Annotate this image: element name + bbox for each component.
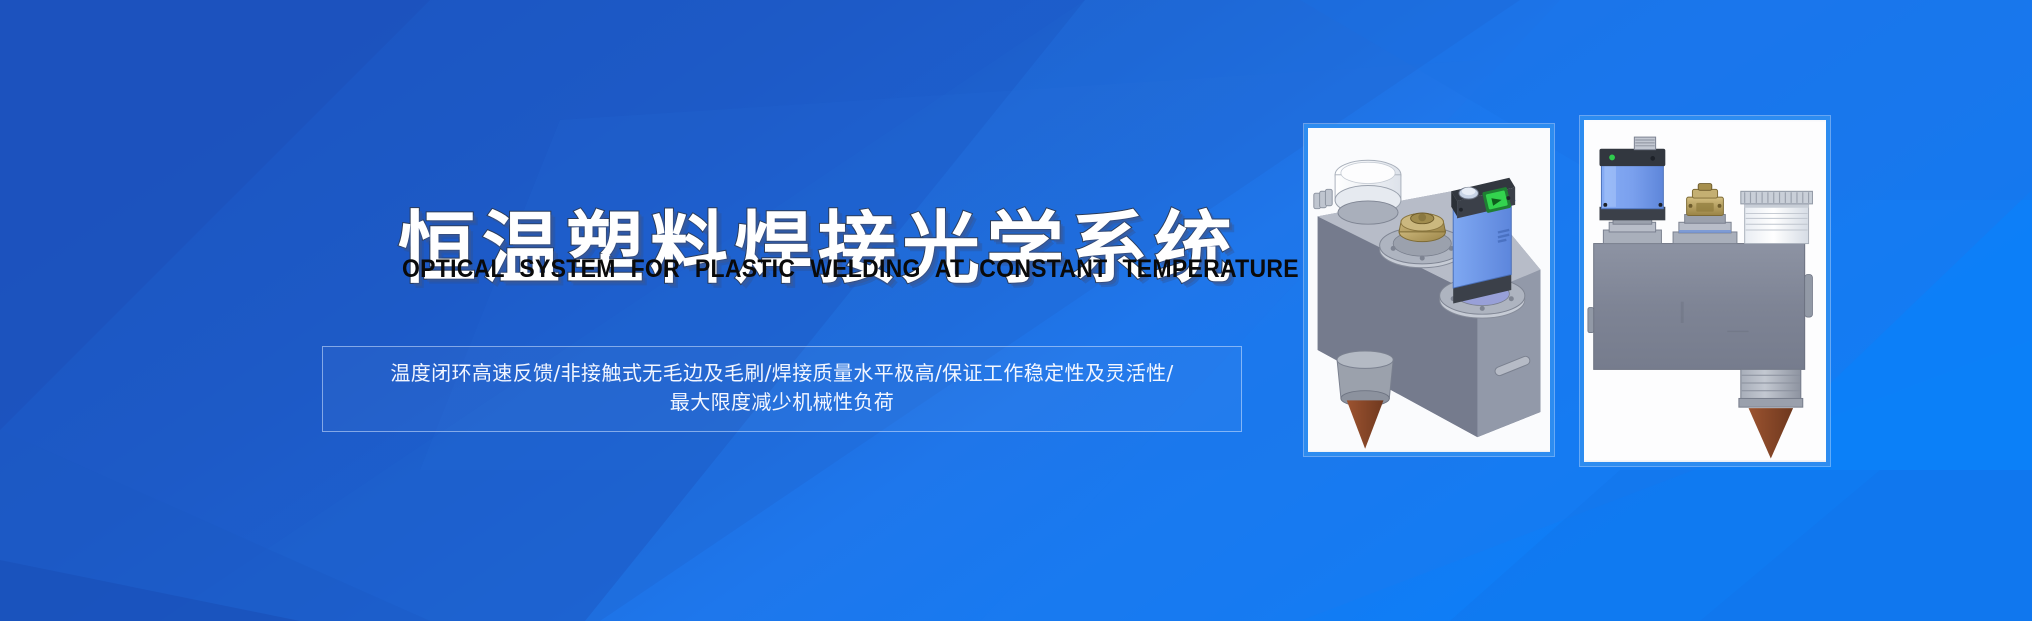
product-image-frame-front[interactable]: [1580, 116, 1830, 466]
product-render-front: [1584, 120, 1826, 462]
product-image-frame-isometric[interactable]: [1304, 124, 1554, 456]
subtitle-line-1: 温度闭环高速反馈/非接触式无毛边及毛刷/焊接质量水平极高/保证工作稳定性及灵活性…: [341, 359, 1223, 388]
promo-banner: 恒温塑料焊接光学系统 OPTICAL SYSTEM FOR PLASTIC WE…: [0, 0, 2032, 621]
subtitle-box: 温度闭环高速反馈/非接触式无毛边及毛刷/焊接质量水平极高/保证工作稳定性及灵活性…: [322, 346, 1242, 432]
title-stack: 恒温塑料焊接光学系统 OPTICAL SYSTEM FOR PLASTIC WE…: [398, 198, 1268, 333]
subtitle-line-2: 最大限度减少机械性负荷: [341, 388, 1223, 417]
page-title-chinese: 恒温塑料焊接光学系统: [398, 190, 1268, 308]
product-render-isometric: [1308, 128, 1550, 452]
headline-block: 恒温塑料焊接光学系统 OPTICAL SYSTEM FOR PLASTIC WE…: [398, 198, 1268, 398]
page-title-english: OPTICAL SYSTEM FOR PLASTIC WELDING AT CO…: [402, 254, 1199, 284]
